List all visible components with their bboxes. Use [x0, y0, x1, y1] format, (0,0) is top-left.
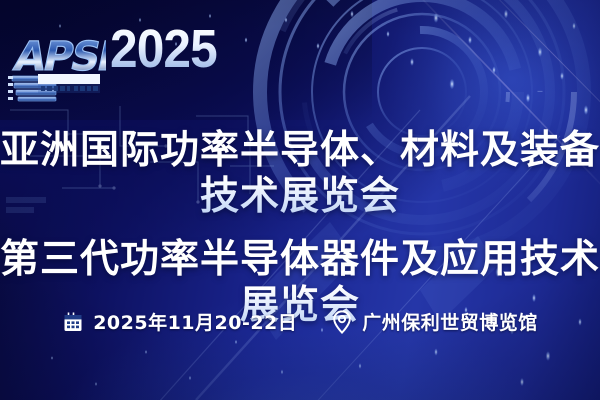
event-venue: 广州保利世贸博览馆: [331, 308, 538, 335]
event-venue-text: 广州保利世贸博览馆: [362, 308, 538, 335]
svg-text:APSME: APSME: [10, 32, 106, 79]
event-info-bar: 2025年11月20-22日 广州保利世贸博览馆: [0, 308, 600, 335]
title-block: 亚洲国际功率半导体、材料及装备技术展览会 第三代功率半导体器件及应用技术展览会: [0, 128, 600, 329]
event-date: 2025年11月20-22日: [62, 308, 297, 335]
event-banner: APSME: [0, 0, 600, 400]
logo-year: 2025: [110, 22, 217, 76]
stacked-chip-layers-icon: APSME: [8, 24, 106, 102]
title-line-primary: 亚洲国际功率半导体、材料及装备技术展览会: [0, 128, 600, 220]
calendar-icon: [62, 311, 84, 333]
event-date-text: 2025年11月20-22日: [93, 308, 297, 335]
map-pin-icon: [331, 310, 353, 334]
event-logo: APSME: [8, 24, 226, 102]
